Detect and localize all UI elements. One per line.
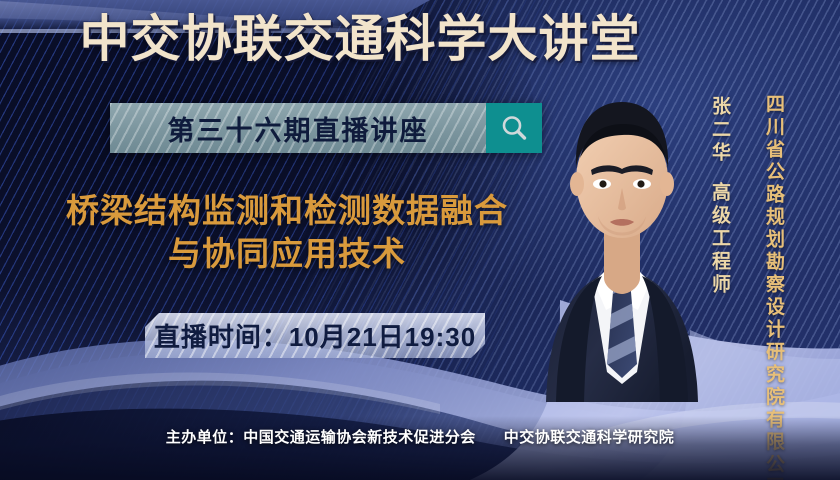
speaker-portrait — [536, 72, 708, 402]
organizer-primary: 中国交通运输协会新技术促进分会 — [243, 429, 476, 446]
episode-banner: 第三十六期直播讲座 — [110, 103, 542, 153]
search-icon[interactable] — [486, 103, 542, 153]
organizers-footer: 主办单位：中国交通运输协会新技术促进分会中交协联交通科学研究院 — [0, 426, 840, 447]
broadcast-time-box: 直播时间：10月21日19:30 — [145, 313, 485, 358]
organizer-prefix: 主办单位： — [166, 429, 244, 446]
broadcast-time-text: 直播时间：10月21日19:30 — [154, 317, 476, 354]
lecture-topic-line2: 与协同应用技术 — [22, 233, 552, 276]
live-lecture-poster: 中交协联交通科学大讲堂 第三十六期直播讲座 桥梁结构监测和检测数据融合 与协同应… — [0, 0, 840, 480]
lecture-topic: 桥梁结构监测和检测数据融合 与协同应用技术 — [22, 190, 552, 276]
organizer-secondary: 中交协联交通科学研究院 — [504, 429, 675, 446]
speaker-name: 张二华 — [706, 96, 733, 165]
page-title: 中交协联交通科学大讲堂 — [0, 14, 840, 64]
speaker-role: 高级工程师 — [706, 182, 733, 297]
episode-banner-body: 第三十六期直播讲座 — [110, 103, 486, 153]
lecture-topic-line1: 桥梁结构监测和检测数据融合 — [66, 192, 508, 229]
episode-label: 第三十六期直播讲座 — [168, 109, 429, 148]
